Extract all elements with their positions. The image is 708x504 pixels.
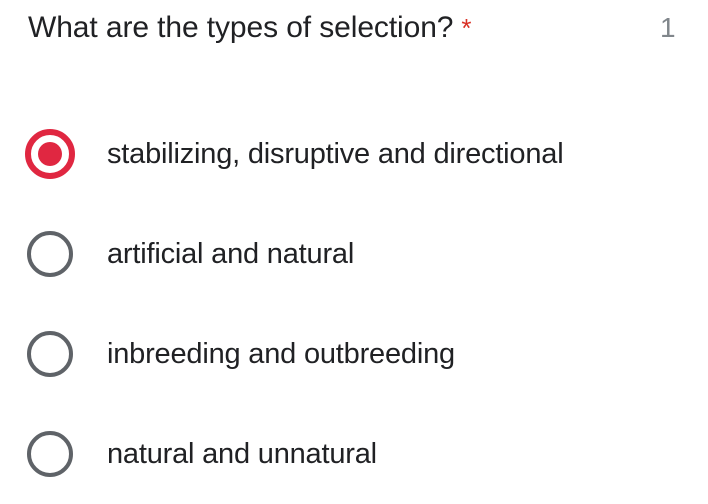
- required-asterisk-icon: *: [461, 8, 471, 48]
- option-label-1[interactable]: stabilizing, disruptive and directional: [107, 135, 563, 173]
- question-title: What are the types of selection?: [28, 8, 453, 48]
- radio-ring: [27, 431, 73, 477]
- option-row-1[interactable]: stabilizing, disruptive and directional: [0, 104, 708, 204]
- option-label-3[interactable]: inbreeding and outbreeding: [107, 335, 455, 373]
- radio-button-unselected-icon[interactable]: [24, 328, 76, 380]
- radio-button-unselected-icon[interactable]: [24, 428, 76, 480]
- radio-button-unselected-icon[interactable]: [24, 228, 76, 280]
- radio-inner-dot: [38, 142, 62, 166]
- question-points-value: 1: [660, 8, 676, 48]
- radio-button-selected-icon[interactable]: [24, 128, 76, 180]
- radio-ring: [27, 331, 73, 377]
- option-label-4[interactable]: natural and unnatural: [107, 435, 377, 473]
- option-row-3[interactable]: inbreeding and outbreeding: [0, 304, 708, 404]
- radio-ring: [27, 231, 73, 277]
- option-label-2[interactable]: artificial and natural: [107, 235, 354, 273]
- option-row-2[interactable]: artificial and natural: [0, 204, 708, 304]
- question-header: What are the types of selection? *: [28, 8, 708, 54]
- option-row-4[interactable]: natural and unnatural: [0, 404, 708, 504]
- radio-group[interactable]: stabilizing, disruptive and directional …: [0, 104, 708, 504]
